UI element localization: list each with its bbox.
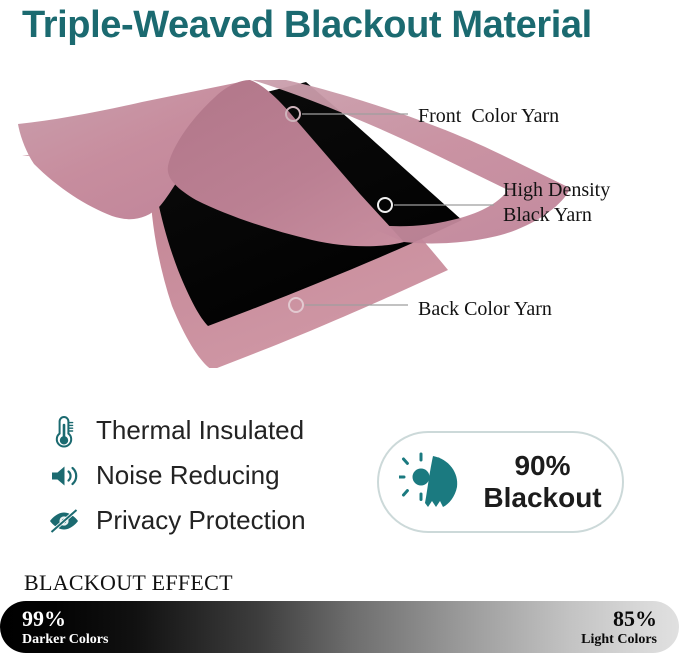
- feature-list: Thermal Insulated Noise Reducing Privacy…: [44, 408, 364, 543]
- feature-label-noise: Noise Reducing: [96, 460, 280, 491]
- darker-colors-label: Darker Colors: [22, 631, 108, 648]
- thermometer-icon: [44, 411, 84, 451]
- feature-item-thermal: Thermal Insulated: [44, 408, 364, 453]
- gradient-bar-left-end: 99% Darker Colors: [22, 601, 108, 653]
- darker-colors-percent: 99%: [22, 607, 66, 631]
- light-colors-label: Light Colors: [581, 631, 657, 648]
- feature-item-privacy: Privacy Protection: [44, 498, 364, 543]
- blackout-effect-heading: BLACKOUT EFFECT: [24, 570, 233, 596]
- blackout-badge-text: 90% Blackout: [471, 450, 622, 514]
- feature-label-privacy: Privacy Protection: [96, 505, 306, 536]
- callout-label-front: Front Color Yarn: [418, 104, 559, 129]
- blackout-badge: 90% Blackout: [377, 431, 624, 533]
- gradient-bar-right-end: 85% Light Colors: [581, 601, 657, 653]
- callout-label-middle: High Density Black Yarn: [503, 178, 610, 228]
- light-colors-percent: 85%: [613, 607, 657, 631]
- page-title: Triple-Weaved Blackout Material: [22, 2, 662, 48]
- blackout-percent: 90%: [514, 450, 570, 481]
- feature-item-noise: Noise Reducing: [44, 453, 364, 498]
- feature-label-thermal: Thermal Insulated: [96, 415, 304, 446]
- speaker-sound-icon: [44, 456, 84, 496]
- eye-slash-icon: [44, 501, 84, 541]
- blackout-label: Blackout: [483, 482, 601, 513]
- blackout-effect-gradient-bar: 99% Darker Colors 85% Light Colors: [0, 601, 679, 653]
- sun-behind-curtain-icon: [397, 450, 471, 514]
- callout-label-back: Back Color Yarn: [418, 297, 552, 322]
